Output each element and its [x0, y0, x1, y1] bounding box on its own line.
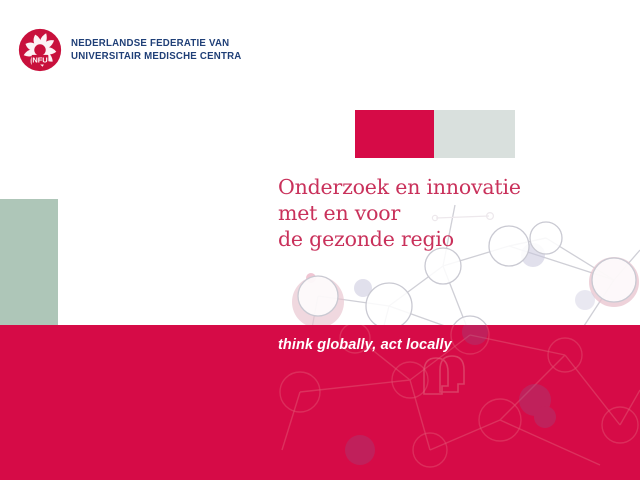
nfu-wordmark: NEDERLANDSE FEDERATIE VAN UNIVERSITAIR M… [71, 37, 242, 63]
svg-text:NFU: NFU [32, 55, 47, 64]
slide-tagline: think globally, act locally [278, 337, 452, 353]
gray-swatch-block [434, 110, 515, 158]
nfu-pinwheel-logo-icon: NFU [18, 28, 62, 72]
red-swatch-block [355, 110, 434, 158]
presentation-slide: NFU NEDERLANDSE FEDERATIE VAN UNIVERSITA… [0, 0, 640, 480]
nfu-logo-lockup[interactable]: NFU NEDERLANDSE FEDERATIE VAN UNIVERSITA… [18, 28, 256, 72]
people-heads-icon [424, 356, 464, 394]
headline-line-2: met en voor [278, 200, 521, 226]
green-left-block [0, 199, 58, 325]
headline-line-3: de gezonde regio [278, 226, 521, 252]
headline-line-1: Onderzoek en innovatie [278, 174, 521, 200]
wordmark-line-1: NEDERLANDSE FEDERATIE VAN [71, 37, 242, 50]
slide-headline: Onderzoek en innovatie met en voor de ge… [278, 174, 521, 252]
wordmark-line-2: UNIVERSITAIR MEDISCHE CENTRA [71, 50, 242, 63]
network-blobs [292, 243, 639, 328]
